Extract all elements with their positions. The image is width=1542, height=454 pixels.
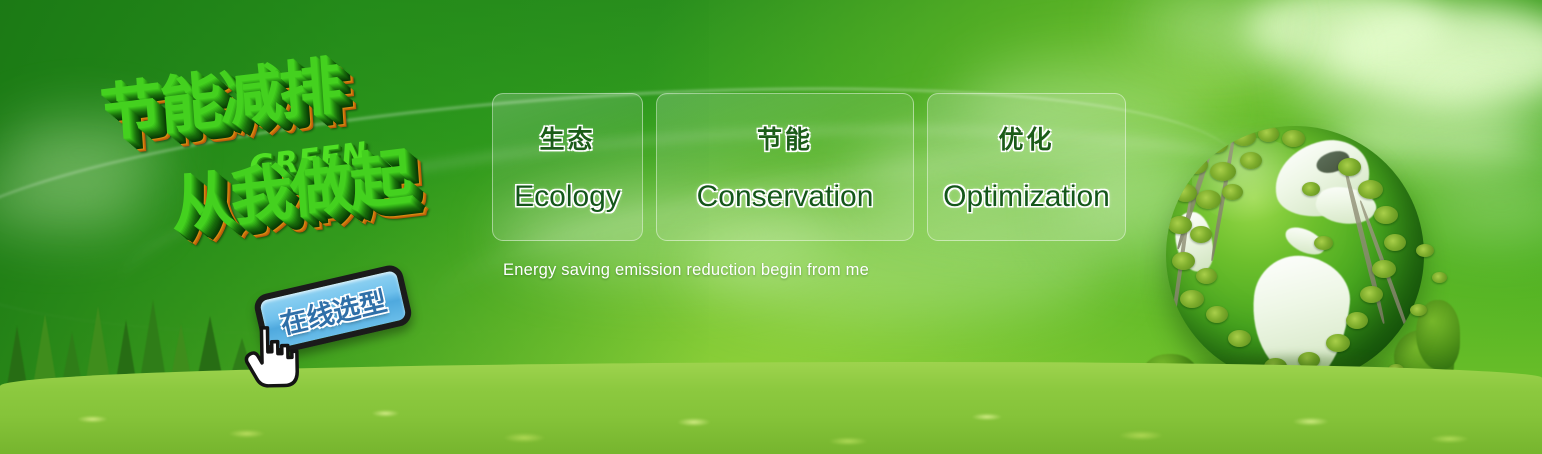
feature-card-optimization-en: Optimization bbox=[943, 180, 1110, 214]
feature-card-ecology-zh: 生态 bbox=[539, 120, 595, 156]
feature-card-ecology-en: Ecology bbox=[514, 180, 621, 214]
headline-line-2-text: 从我做起 bbox=[168, 140, 412, 242]
hand-pointer-icon bbox=[241, 321, 304, 392]
headline-3d-text: 节能减排 GREEN 从我做起 bbox=[96, 31, 491, 287]
feature-card-conservation-en: Conservation bbox=[697, 180, 874, 214]
headline-line-2: 从我做起 bbox=[167, 126, 412, 245]
feature-card-conservation[interactable]: 节能 Conservation bbox=[656, 93, 914, 241]
eco-promo-banner: 节能减排 GREEN 从我做起 在线选型 生态 Ecology 节能 Conse… bbox=[0, 0, 1542, 454]
grass-leaf-litter bbox=[0, 396, 1542, 454]
headline-line-1-text: 节能减排 bbox=[98, 48, 342, 150]
feature-card-ecology[interactable]: 生态 Ecology bbox=[492, 93, 643, 241]
feature-card-optimization[interactable]: 优化 Optimization bbox=[927, 93, 1126, 241]
feature-card-list: 生态 Ecology 节能 Conservation 优化 Optimizati… bbox=[492, 93, 1126, 241]
feature-card-conservation-zh: 节能 bbox=[757, 120, 813, 156]
tagline-text: Energy saving emission reduction begin f… bbox=[503, 261, 869, 280]
feature-card-optimization-zh: 优化 bbox=[998, 120, 1054, 156]
